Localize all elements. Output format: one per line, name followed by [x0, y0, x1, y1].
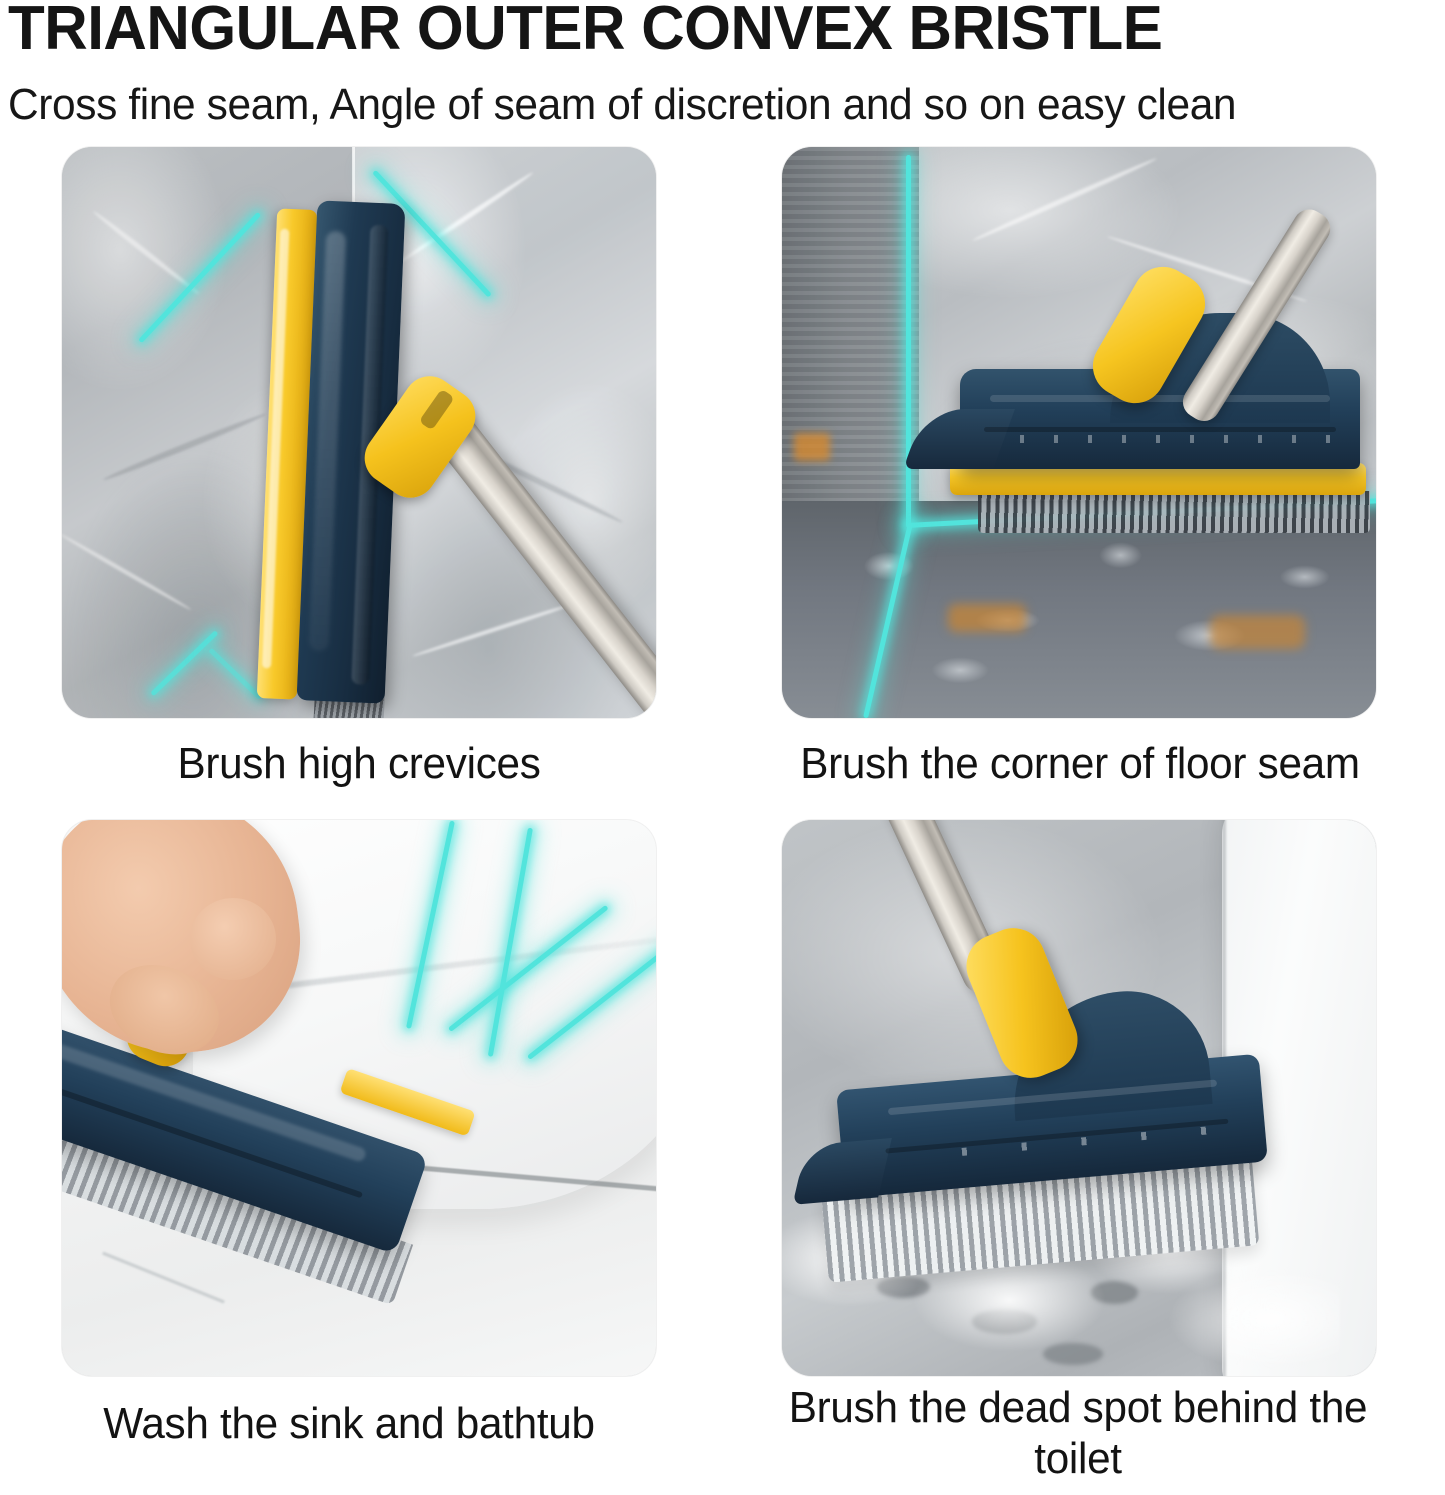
panel-4-photo [782, 820, 1376, 1376]
marble-vein [102, 411, 266, 482]
marble-vein [411, 600, 579, 658]
panel-3-photo [62, 820, 656, 1376]
caption-brush-dead-spot-toilet: Brush the dead spot behind the toilet [788, 1382, 1368, 1484]
page-title: TRIANGULAR OUTER CONVEX BRISTLE [8, 0, 1402, 63]
caption-brush-corner-floor-seam: Brush the corner of floor seam [782, 738, 1377, 789]
head-ridge [984, 427, 1336, 432]
rust-stain [1210, 615, 1305, 649]
rust-stain [948, 604, 1025, 633]
marble-vein [972, 156, 1158, 242]
panel-1-photo [62, 147, 656, 718]
caption-brush-high-crevices: Brush high crevices [74, 738, 644, 789]
caption-wash-sink-bathtub: Wash the sink and bathtub [54, 1398, 643, 1449]
infographic-page: TRIANGULAR OUTER CONVEX BRISTLE Cross fi… [0, 0, 1445, 1495]
photo-panel-wash-sink-bathtub [62, 820, 656, 1376]
panel-2-photo [782, 147, 1376, 718]
photo-panel-brush-high-crevices [62, 147, 656, 718]
collar-notch [419, 389, 455, 431]
cyan-seam-line-vertical [906, 155, 911, 527]
marble-vein [62, 532, 193, 611]
page-subtitle: Cross fine seam, Angle of seam of discre… [8, 80, 1395, 129]
head-sheen [309, 231, 347, 651]
rust-stain [794, 433, 830, 462]
head-ridge [990, 395, 1330, 402]
hand-knuckle [190, 898, 276, 980]
brush-bristles [978, 491, 1370, 533]
photo-panel-brush-corner-floor-seam [782, 147, 1376, 718]
photo-panel-brush-dead-spot-toilet [782, 820, 1376, 1376]
marble-vein [92, 209, 201, 295]
head-dots [1020, 435, 1330, 443]
